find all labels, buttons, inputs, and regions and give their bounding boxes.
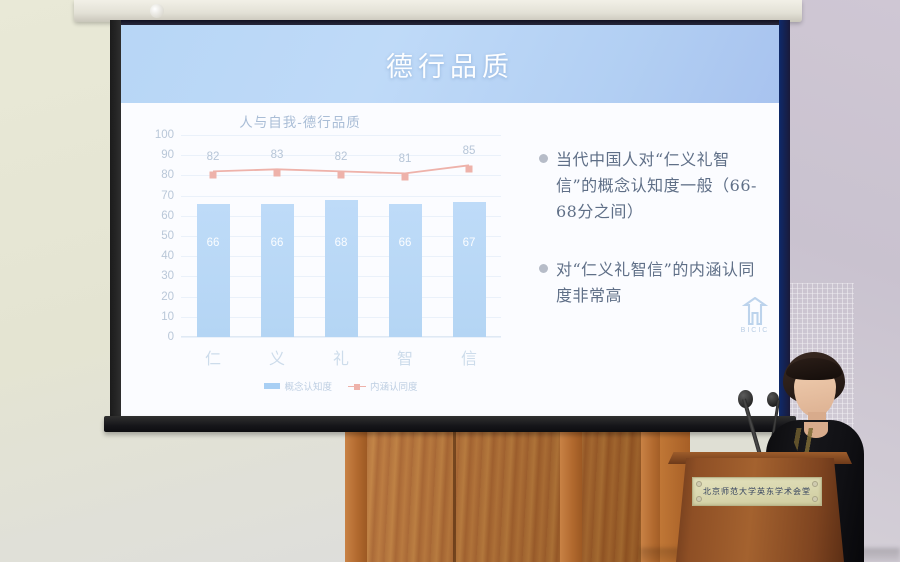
bicic-human-figure-logo-icon bbox=[742, 297, 768, 325]
x-axis-category-label: 礼 bbox=[313, 345, 369, 369]
y-axis-tick-label: 100 bbox=[155, 129, 174, 141]
roller-end-cap bbox=[150, 4, 164, 18]
plaque-screw bbox=[812, 481, 818, 487]
projector-screen-roller-case bbox=[74, 0, 802, 22]
chart: 人与自我-德行品质 100908070605040302010066仁66义68… bbox=[135, 111, 529, 411]
presentation-slide: 德行品质 人与自我-德行品质 100908070605040302010066仁… bbox=[121, 25, 779, 416]
line-data-point bbox=[402, 173, 409, 180]
legend-item: 概念认知度 bbox=[264, 379, 332, 393]
wood-stile-left bbox=[345, 432, 367, 562]
y-axis-tick-label: 60 bbox=[161, 210, 174, 222]
legend-label: 概念认知度 bbox=[284, 379, 332, 393]
wood-wainscot-panel bbox=[345, 432, 645, 562]
y-axis-tick-label: 0 bbox=[168, 331, 174, 343]
bullet-item: 当代中国人对“仁义礼智信”的概念认知度一般（66-68分之间） bbox=[539, 147, 767, 225]
bicic-logo: BICIC bbox=[733, 297, 777, 334]
bullet-dot-icon bbox=[539, 264, 548, 273]
line-data-point bbox=[338, 171, 345, 178]
legend-item: 内涵认同度 bbox=[348, 379, 418, 393]
bullet-text: 当代中国人对“仁义礼智信”的概念认知度一般（66-68分之间） bbox=[556, 147, 767, 225]
y-axis-tick-label: 50 bbox=[161, 230, 174, 242]
y-axis-tick-label: 10 bbox=[161, 311, 174, 323]
chart-line-series bbox=[181, 135, 501, 337]
legend-label: 内涵认同度 bbox=[370, 379, 418, 393]
line-value-label: 85 bbox=[463, 145, 476, 157]
x-axis-category-label: 仁 bbox=[185, 345, 241, 369]
wood-stile-middle bbox=[560, 432, 582, 562]
y-axis-tick-label: 90 bbox=[161, 149, 174, 161]
wood-panel-seam bbox=[453, 432, 456, 562]
y-axis-tick-label: 40 bbox=[161, 250, 174, 262]
x-axis-category-label: 信 bbox=[441, 345, 497, 369]
chart-gridline bbox=[181, 337, 501, 338]
plaque-screw bbox=[696, 481, 702, 487]
line-data-point bbox=[274, 169, 281, 176]
line-data-point bbox=[466, 165, 473, 172]
chart-plot-area: 100908070605040302010066仁66义68礼66智67信828… bbox=[181, 135, 501, 337]
legend-line-swatch-icon bbox=[348, 383, 366, 389]
y-axis-tick-label: 20 bbox=[161, 290, 174, 302]
slide-title: 德行品质 bbox=[121, 45, 779, 84]
plaque-screw bbox=[696, 496, 702, 502]
projection-screen: 德行品质 人与自我-德行品质 100908070605040302010066仁… bbox=[110, 20, 790, 432]
line-value-label: 81 bbox=[399, 153, 412, 165]
y-axis-tick-label: 30 bbox=[161, 270, 174, 282]
y-axis-tick-label: 80 bbox=[161, 169, 174, 181]
podium bbox=[676, 458, 844, 562]
line-data-point bbox=[210, 171, 217, 178]
venue-plaque: 北京师范大学英东学术会堂 bbox=[692, 477, 822, 506]
screen-bottom-weight-bar bbox=[104, 416, 796, 432]
x-axis-category-label: 义 bbox=[249, 345, 305, 369]
line-value-label: 83 bbox=[271, 149, 284, 161]
x-axis-category-label: 智 bbox=[377, 345, 433, 369]
legend-bar-swatch-icon bbox=[264, 383, 280, 389]
chart-legend: 概念认知度内涵认同度 bbox=[181, 379, 501, 393]
y-axis-tick-label: 70 bbox=[161, 189, 174, 201]
line-value-label: 82 bbox=[335, 151, 348, 163]
line-value-label: 82 bbox=[207, 151, 220, 163]
conference-room-photo: 德行品质 人与自我-德行品质 100908070605040302010066仁… bbox=[0, 0, 900, 562]
bullet-dot-icon bbox=[539, 154, 548, 163]
venue-plaque-text: 北京师范大学英东学术会堂 bbox=[703, 486, 811, 497]
bicic-logo-text: BICIC bbox=[733, 327, 777, 334]
plaque-screw bbox=[812, 496, 818, 502]
screen-left-edge bbox=[110, 20, 121, 420]
chart-title: 人与自我-德行品质 bbox=[135, 111, 465, 131]
